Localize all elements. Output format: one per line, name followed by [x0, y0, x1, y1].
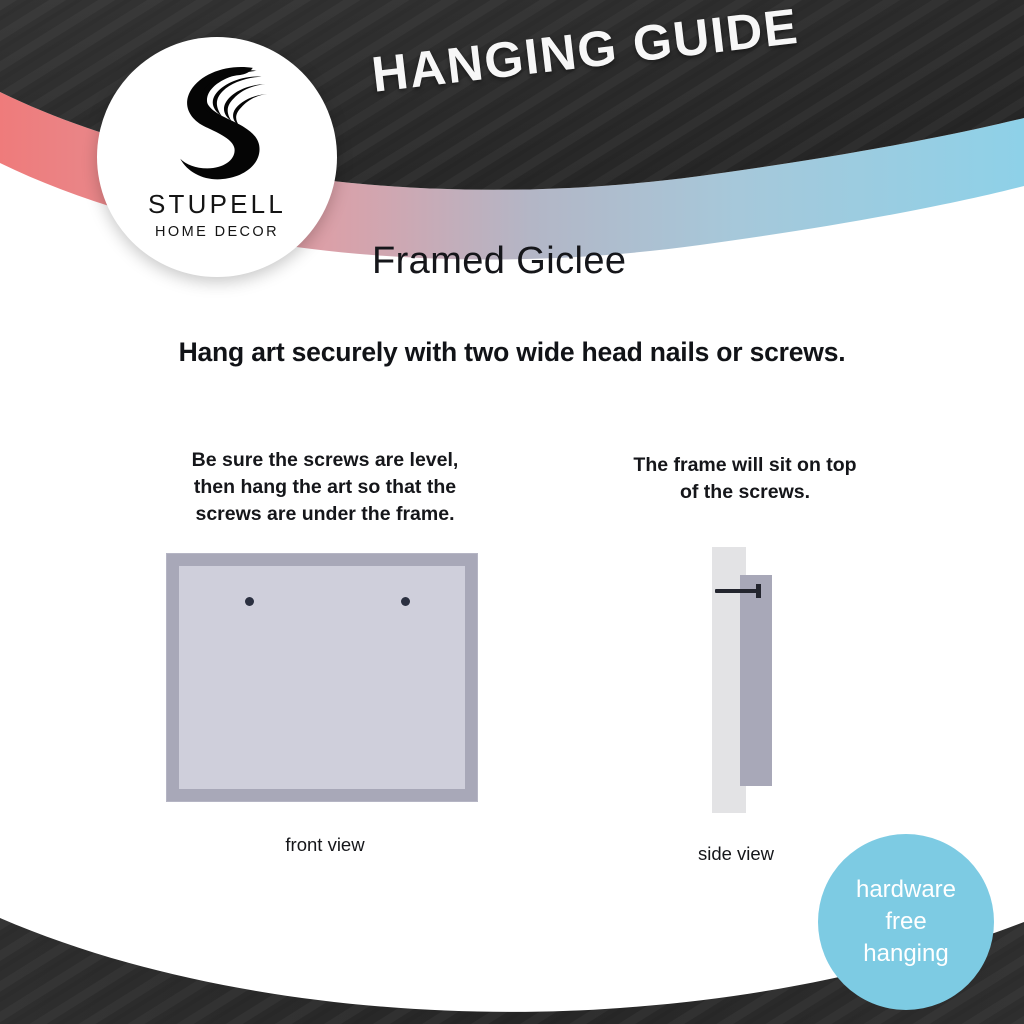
front-view-caption: Be sure the screws are level, then hang …: [160, 447, 490, 528]
side-view-diagram: [706, 545, 806, 817]
logo-brand-name: STUPELL: [148, 191, 286, 217]
front-view-diagram: [166, 553, 478, 802]
side-view-caption: The frame will sit on top of the screws.: [600, 452, 890, 506]
side-view-label: side view: [636, 843, 836, 865]
product-type-title: Framed Giclee: [372, 240, 626, 283]
page-title: HANGING GUIDE: [369, 0, 892, 104]
side-caption-line-1: The frame will sit on top: [600, 452, 890, 479]
front-caption-line-2: then hang the art so that the: [160, 474, 490, 501]
side-view-screw-head: [756, 584, 761, 598]
lead-instruction: Hang art securely with two wide head nai…: [0, 337, 1024, 368]
badge-line-3: hanging: [863, 938, 948, 970]
hardware-free-hanging-badge: hardware free hanging: [818, 834, 994, 1010]
side-view-screw-shaft: [715, 589, 759, 593]
front-caption-line-3: screws are under the frame.: [160, 501, 490, 528]
side-caption-line-2: of the screws.: [600, 479, 890, 506]
side-view-frame: [740, 575, 772, 786]
front-view-mat: [179, 566, 465, 789]
badge-line-2: free: [885, 906, 926, 938]
badge-line-1: hardware: [856, 874, 956, 906]
screw-dot-left: [245, 597, 254, 606]
screw-dot-right: [401, 597, 410, 606]
front-view-label: front view: [190, 834, 460, 856]
stupell-s-swoosh-logo: [159, 59, 275, 185]
hanging-guide-page: STUPELL HOME DECOR HANGING GUIDE Framed …: [0, 0, 1024, 1024]
stupell-logo-badge: STUPELL HOME DECOR: [97, 37, 337, 277]
logo-tagline: HOME DECOR: [155, 225, 279, 240]
front-caption-line-1: Be sure the screws are level,: [160, 447, 490, 474]
